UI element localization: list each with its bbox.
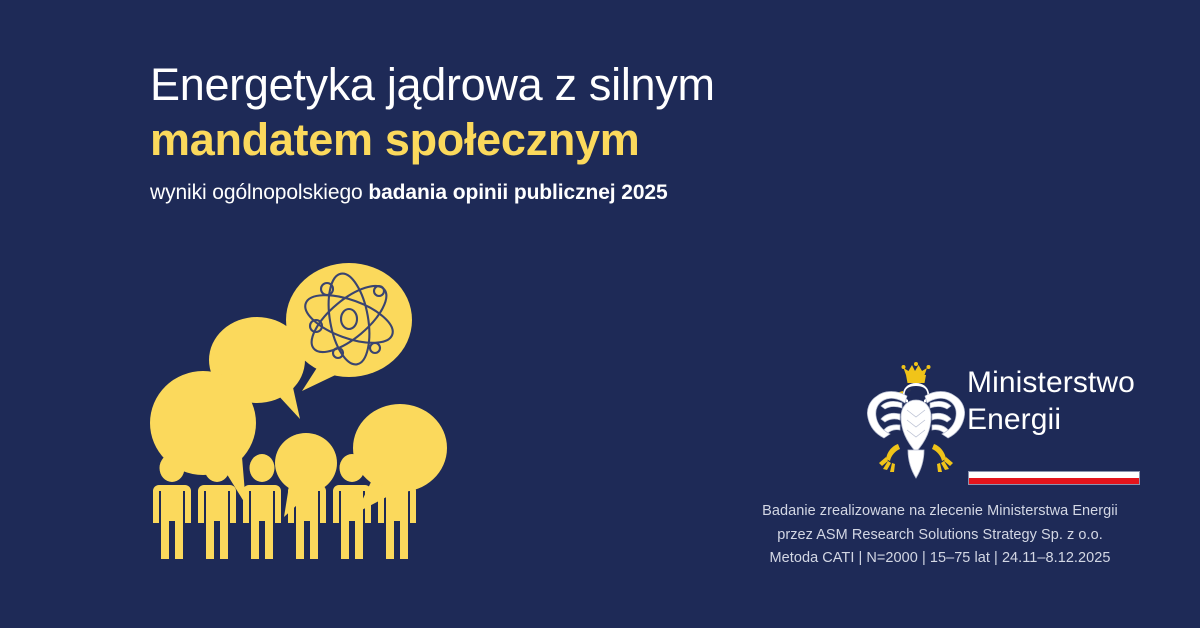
headline-block: Energetyka jądrowa z silnym mandatem spo… [150, 58, 850, 206]
ministry-logo-text: Ministerstwo Energii [967, 364, 1135, 438]
speech-bubble-atom [286, 263, 412, 391]
person-figure [243, 454, 281, 559]
footer-line-3: Metoda CATI | N=2000 | 15–75 lat | 24.11… [730, 547, 1150, 571]
footer-credits: Badanie zrealizowane na zlecenie Ministe… [730, 500, 1150, 571]
illustration-speech-bubbles [150, 255, 450, 575]
speech-bubble-left-large [150, 371, 256, 505]
page-title-line1: Energetyka jądrowa z silnym [150, 58, 850, 112]
subtitle-regular-part: wyniki ogólnopolskiego [150, 181, 368, 204]
page-title-line2: mandatem społecznym [150, 112, 850, 168]
ministry-logo-line1: Ministerstwo [967, 364, 1135, 401]
polish-eagle-emblem [862, 358, 970, 486]
polish-flag-bar [968, 471, 1140, 485]
flag-stripe-red [969, 478, 1139, 484]
ministry-logo-line2: Energii [967, 401, 1135, 438]
footer-line-1: Badanie zrealizowane na zlecenie Ministe… [730, 500, 1150, 524]
poster-canvas: Energetyka jądrowa z silnym mandatem spo… [0, 0, 1200, 628]
footer-line-2: przez ASM Research Solutions Strategy Sp… [730, 524, 1150, 548]
crown-icon [902, 362, 931, 383]
page-subtitle: wyniki ogólnopolskiego badania opinii pu… [150, 180, 850, 206]
ministry-logo-block: Ministerstwo Energii [862, 358, 1147, 490]
subtitle-bold-part: badania opinii publicznej 2025 [368, 181, 667, 204]
